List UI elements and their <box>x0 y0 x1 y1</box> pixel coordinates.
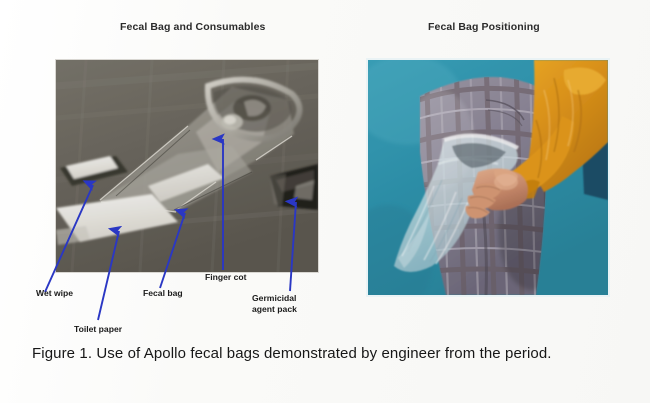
annotation-label-fecal-bag: Fecal bag <box>143 288 183 299</box>
photo-fecal-bag-consumables <box>56 60 318 272</box>
annotation-label-wet-wipe: Wet wipe <box>36 288 73 299</box>
annotation-label-finger-cot: Finger cot <box>205 272 247 283</box>
panel-title-right: Fecal Bag Positioning <box>428 21 540 33</box>
figure-caption: Figure 1. Use of Apollo fecal bags demon… <box>32 344 620 364</box>
panel-title-left: Fecal Bag and Consumables <box>120 21 265 33</box>
annotation-label-toilet-paper: Toilet paper <box>74 324 122 335</box>
photo-left-artwork <box>56 60 318 272</box>
photo-right-artwork <box>368 60 608 295</box>
photo-fecal-bag-positioning <box>368 60 608 295</box>
figure-page: Fecal Bag and Consumables Fecal Bag Posi… <box>0 0 650 403</box>
annotation-label-germicidal-agent-pack: Germicidal agent pack <box>252 293 297 315</box>
